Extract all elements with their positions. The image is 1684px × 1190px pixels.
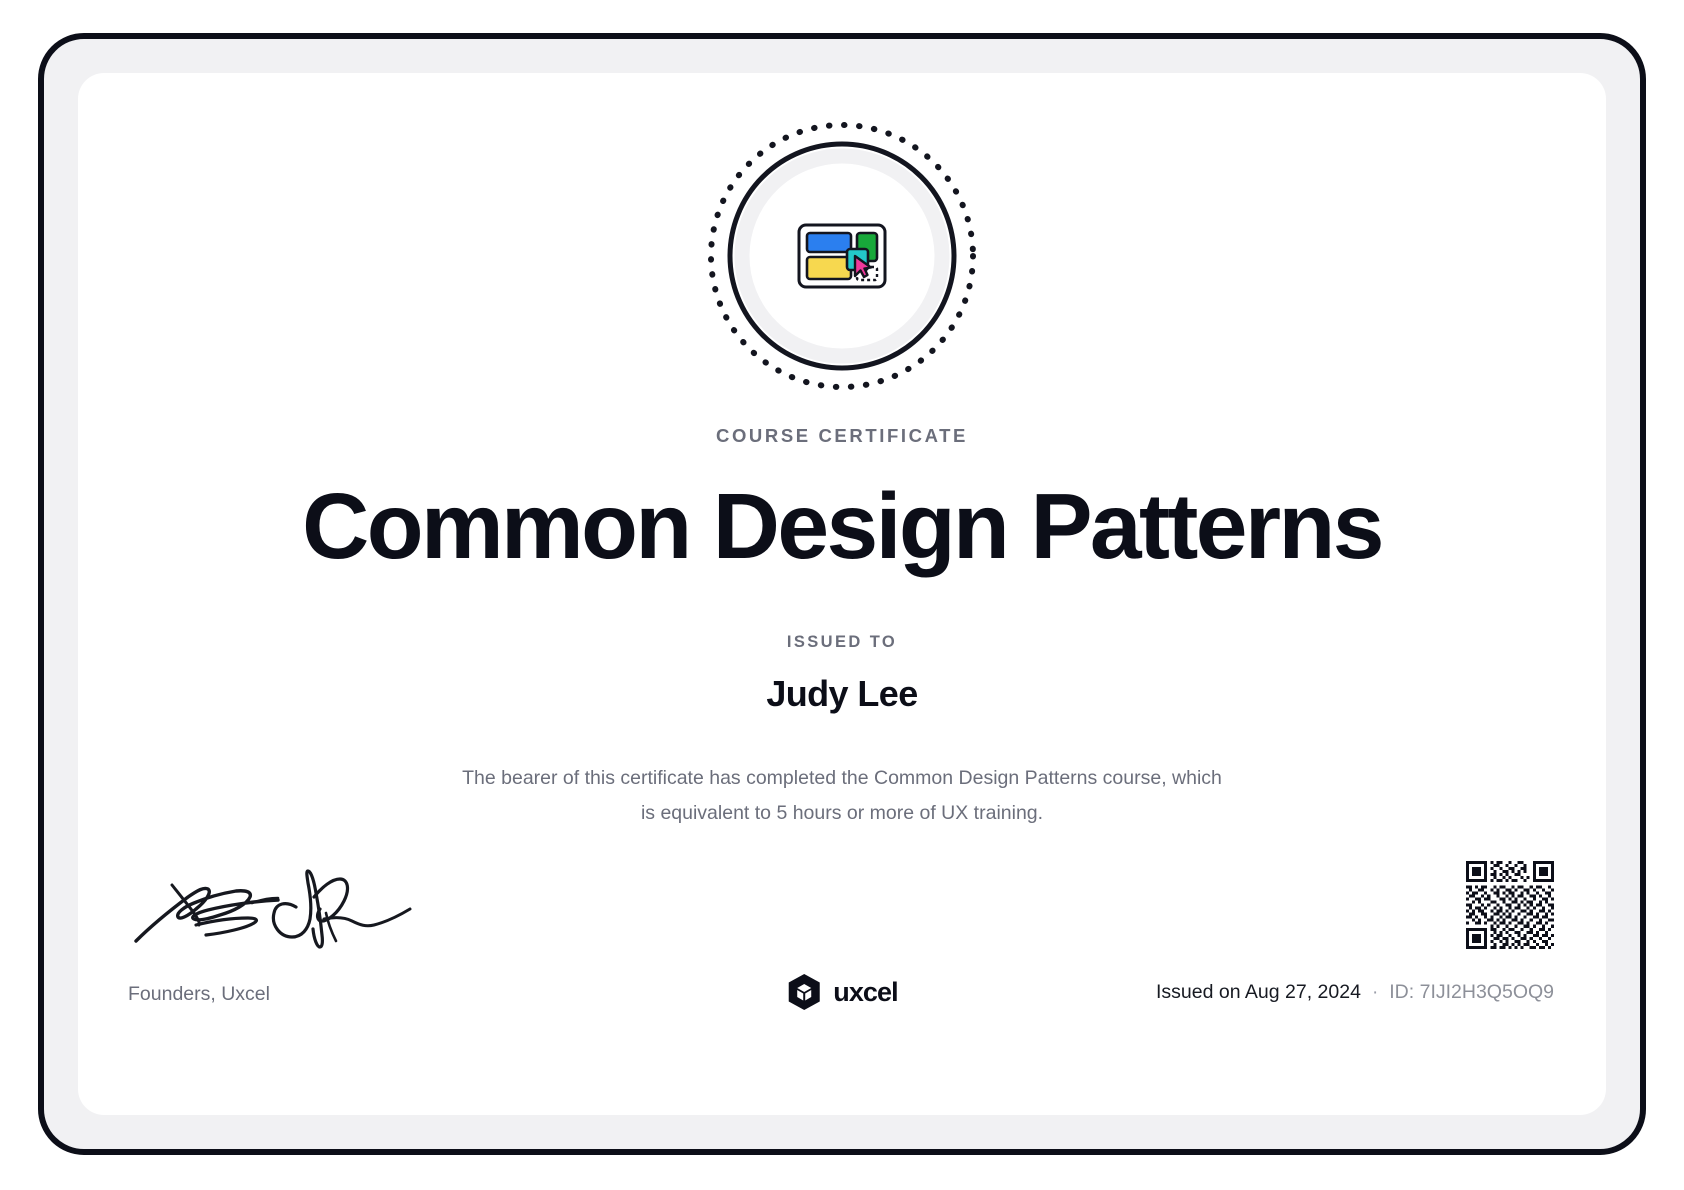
certificate-page: UXCEL CERTIFIED • UXCEL CERTIFIED • — [0, 0, 1684, 1190]
seal-ring-text-mirror: UXCEL CERTIFIED • — [703, 117, 826, 121]
certificate-card: UXCEL CERTIFIED • UXCEL CERTIFIED • — [78, 73, 1606, 1115]
issue-metadata: Issued on Aug 27, 2024 · ID: 7IJI2H3Q5OQ… — [1156, 981, 1554, 1004]
issued-to-label: ISSUED TO — [78, 633, 1606, 652]
certificate-description: The bearer of this certificate has compl… — [457, 761, 1227, 831]
signature-caption: Founders, Uxcel — [128, 983, 270, 1006]
recipient-name: Judy Lee — [78, 673, 1606, 715]
signature-strokes — [128, 863, 428, 953]
uxcel-brand-logo: uxcel — [786, 973, 898, 1011]
certificate-id: ID: 7IJI2H3Q5OQ9 — [1389, 981, 1554, 1004]
handwritten-signature — [128, 863, 428, 953]
ui-layout-cursor-icon — [797, 223, 887, 289]
seal-ring-text: UXCEL CERTIFIED • — [703, 117, 826, 121]
issue-date: Issued on Aug 27, 2024 — [1156, 981, 1361, 1004]
page-title: Common Design Patterns — [78, 477, 1606, 576]
certification-seal: UXCEL CERTIFIED • UXCEL CERTIFIED • — [703, 117, 981, 395]
uxcel-wordmark: uxcel — [833, 977, 898, 1008]
qr-code[interactable] — [1466, 861, 1554, 949]
certificate-frame: UXCEL CERTIFIED • UXCEL CERTIFIED • — [38, 33, 1646, 1155]
qr-code-graphic — [1466, 861, 1554, 949]
meta-separator: · — [1372, 982, 1378, 1004]
eyebrow-label: COURSE CERTIFICATE — [78, 425, 1606, 447]
uxcel-hexagon-cube-logo — [786, 973, 822, 1011]
